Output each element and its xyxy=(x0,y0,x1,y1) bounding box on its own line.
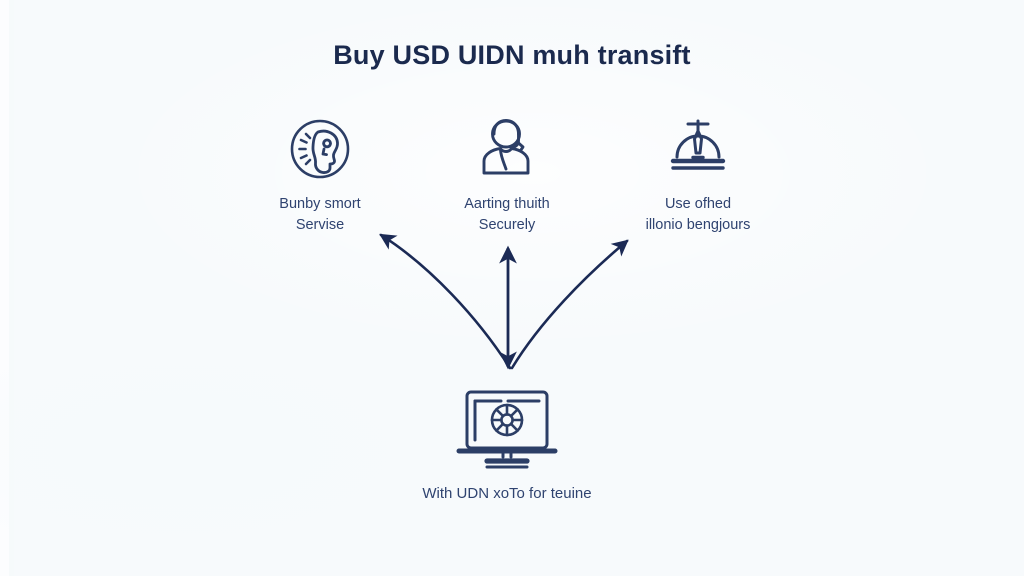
feature-label-line1: Aarting thuith xyxy=(464,196,549,212)
feature-label: Aarting thuith Securely xyxy=(397,194,617,236)
diagram-canvas: Buy USD UIDN muh transift xyxy=(0,0,1024,576)
feature-label-line1: Bunby smort xyxy=(279,196,360,212)
arrow-to-left-feature xyxy=(381,235,510,368)
feature-label-line2: Securely xyxy=(397,215,617,236)
feature-label: Use ofhed illonio bengjours xyxy=(588,194,808,236)
hub-caption: With UDN xoTo for teuine xyxy=(347,484,667,504)
laptop-globe-icon xyxy=(347,388,667,472)
hub-udn-network-terminal[interactable]: With UDN xoTo for teuine xyxy=(347,388,667,504)
feature-label-line1: Use ofhed xyxy=(665,196,731,212)
support-agent-headset-icon xyxy=(397,112,617,186)
feature-use-ofhed-illonio-bengjours[interactable]: Use ofhed illonio bengjours xyxy=(588,112,808,236)
arrow-to-right-feature xyxy=(512,241,627,368)
feature-label-line2: illonio bengjours xyxy=(588,215,808,236)
feature-aarting-thuith-securely[interactable]: Aarting thuith Securely xyxy=(397,112,617,236)
gauge-arch-meter-icon xyxy=(588,112,808,186)
